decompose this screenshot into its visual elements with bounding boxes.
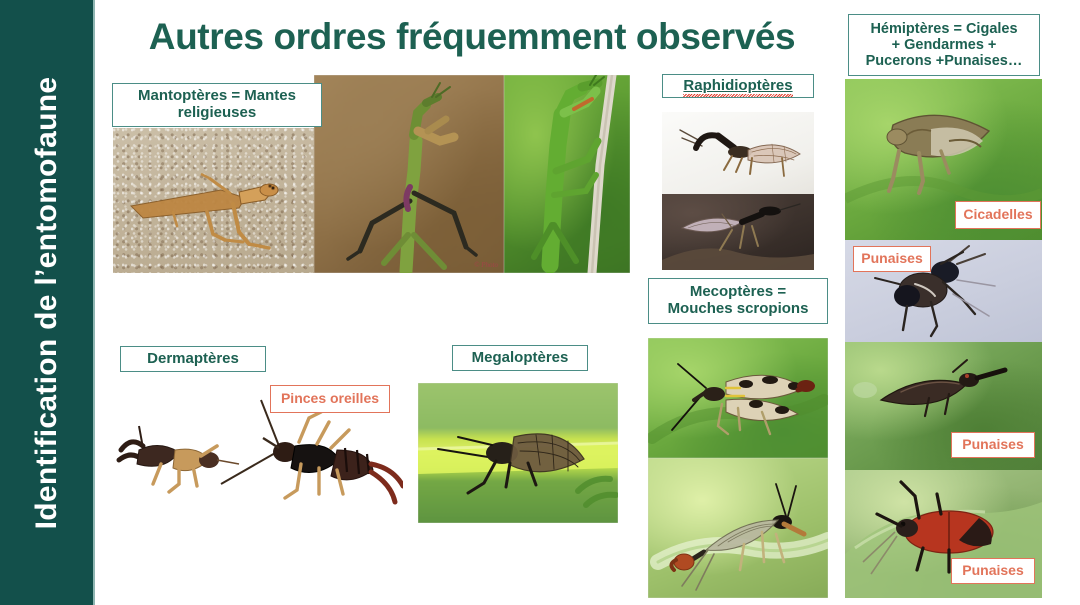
label-hemiptera-line2: + Gendarmes +: [892, 37, 997, 53]
leafhopper-on-leaf-photo: Cicadelles: [845, 79, 1042, 240]
snakefly-white-background-photo: [662, 112, 814, 194]
label-mecoptera: Mecoptères = Mouches scropions: [648, 278, 828, 324]
label-punaises-2: Punaises: [951, 432, 1035, 458]
green-mantis-on-twig-photo: [504, 75, 630, 273]
label-mantoptera-line1: Mantoptères = Mantes: [138, 87, 296, 104]
label-dermaptera: Dermaptères: [120, 346, 266, 372]
label-raphidioptera: Raphidioptères: [662, 74, 814, 98]
label-hemiptera-line1: Hémiptères = Cigales: [870, 21, 1017, 37]
label-hemiptera-line3: Pucerons +Punaises…: [866, 53, 1023, 69]
two-earwigs-illustration: [113, 398, 403, 538]
sidebar-band: Identification de l’entomofaune: [0, 0, 95, 605]
red-bug-on-leaf-photo: Punaises: [845, 470, 1042, 598]
label-cicadelles: Cicadelles: [955, 201, 1041, 229]
label-punaises-3: Punaises: [951, 558, 1035, 584]
alderfly-on-stem-photo: [418, 383, 618, 523]
bug-on-lavender-background-photo: Punaises: [845, 240, 1042, 342]
label-mecoptera-line1: Mecoptères =: [690, 283, 786, 300]
page-title: Autres ordres fréquemment observés: [112, 16, 832, 58]
snakefly-on-bark-photo: [662, 194, 814, 270]
label-megaloptera: Megaloptères: [452, 345, 588, 371]
dark-bug-on-green-leaf-photo: Punaises: [845, 342, 1042, 470]
mantis-brown-background-photo: © Photo: [314, 75, 504, 273]
scorpionfly-red-tail-photo: [648, 458, 828, 598]
sidebar-title: Identification de l’entomofaune: [30, 76, 64, 529]
scorpionfly-on-leaf-photo: [648, 338, 828, 458]
photo-credit: © Photo: [474, 261, 498, 269]
label-hemiptera: Hémiptères = Cigales + Gendarmes + Pucer…: [848, 14, 1040, 76]
label-punaises-1: Punaises: [853, 246, 931, 272]
label-pinces-oreilles: Pinces oreilles: [270, 385, 390, 413]
mantis-on-sand-photo: [113, 128, 314, 273]
label-mantoptera: Mantoptères = Mantes religieuses: [112, 83, 322, 127]
label-mecoptera-line2: Mouches scropions: [668, 300, 809, 317]
label-mantoptera-line2: religieuses: [178, 104, 256, 121]
label-raphidioptera-text: Raphidioptères: [683, 77, 792, 94]
